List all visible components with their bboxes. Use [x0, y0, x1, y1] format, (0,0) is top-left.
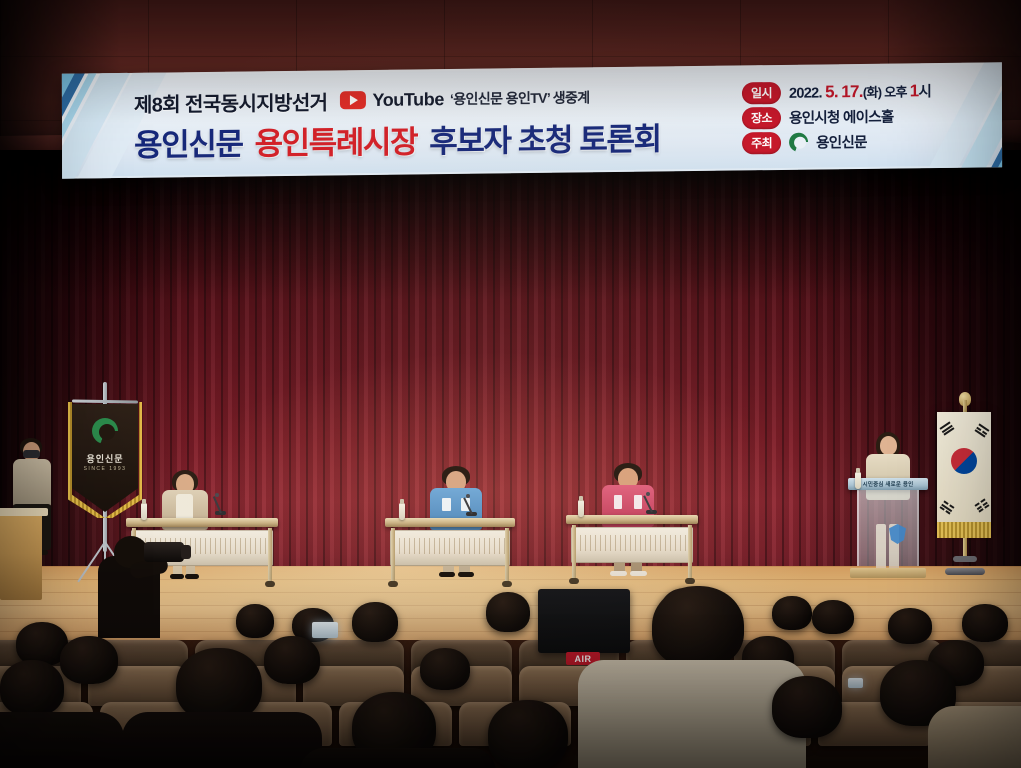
candidate-red-sash-right [634, 495, 642, 509]
youtube-icon [340, 91, 366, 109]
flag-cloth [937, 412, 991, 524]
candidate-blue-microphone [466, 496, 478, 518]
audience-head-foreground [652, 586, 744, 668]
table-top [385, 518, 515, 527]
podium-body [857, 490, 919, 566]
info-value-host: 용인신문 [816, 131, 867, 153]
staff-face-mask-icon [23, 450, 40, 458]
dslr-camera-icon [144, 542, 184, 562]
banner-info-block: 일시 2022. 5. 17.(화) 오후 1시 장소 용인시청 에이스홀 주최… [742, 66, 994, 166]
speaker-podium: 시민중심 새로운 용인 [848, 478, 928, 588]
banner-info-host: 주최 용인신문 [742, 129, 954, 154]
trigram-ri-icon [940, 500, 955, 514]
announcer-head [880, 436, 897, 455]
moderator-water-bottle [141, 503, 147, 520]
korean-national-flag [935, 400, 997, 590]
banner-info-datetime: 일시 2022. 5. 17.(화) 오후 1시 [742, 79, 954, 104]
audience-head [812, 600, 854, 634]
info-pill-datetime: 일시 [742, 81, 781, 103]
youtube-livestream-chip: YouTube ‘용인신문 용인TV’ 생중계 [340, 87, 589, 111]
info-pill-host: 주최 [742, 131, 781, 153]
audience-head [236, 604, 274, 638]
audience-shoulders-foreground [0, 712, 124, 768]
candidate-red-sash-left [614, 495, 622, 509]
candidate-red-table [566, 515, 698, 587]
audience-head [772, 596, 812, 630]
audience-head [486, 592, 530, 632]
staff-shirt [13, 459, 51, 507]
table-skirt [571, 527, 693, 563]
candidate-red-water-bottle [578, 500, 584, 517]
audience-seat-row-middle [0, 666, 1021, 706]
table-top [126, 518, 278, 527]
info-value-venue: 용인시청 에이스홀 [789, 106, 894, 128]
banner-main-text: 제8회 전국동시지방선거 YouTube ‘용인신문 용인TV’ 생중계 용인신… [134, 69, 742, 173]
moderator-microphone [215, 495, 227, 517]
trigram-gon-icon [975, 498, 990, 512]
audience-phone-recording[interactable] [312, 622, 338, 638]
pennant-crossbar [72, 399, 138, 403]
audience-head-foreground [488, 700, 568, 768]
candidate-blue-table [385, 518, 515, 588]
audience-head-foreground [0, 660, 64, 716]
podium-base [850, 568, 926, 578]
youtube-wordmark: YouTube [372, 89, 444, 111]
audience-head [60, 636, 118, 684]
trigram-geon-icon [940, 421, 955, 435]
flag-fringe [937, 522, 991, 538]
press-photographer [88, 528, 188, 638]
banner-title-event: 후보자 초청 토론회 [429, 113, 661, 161]
yongin-city-emblem-icon [889, 524, 906, 544]
audience-head [352, 602, 398, 642]
audience-head [420, 648, 470, 690]
podium-water-bottle [855, 472, 861, 489]
pennant-name: 용인신문 [58, 452, 152, 465]
candidate-blue-sash-left [442, 498, 451, 511]
audience-head [962, 604, 1008, 642]
event-banner: 제8회 전국동시지방선거 YouTube ‘용인신문 용인TV’ 생중계 용인신… [62, 62, 1002, 178]
flag-stand-base [945, 568, 985, 575]
stage-monitor [538, 589, 630, 653]
banner-info-venue: 장소 용인시청 에이스홀 [742, 104, 954, 129]
audience-head-foreground [176, 648, 262, 722]
table-skirt [390, 530, 510, 566]
podium-slogan: 시민중심 새로운 용인 [852, 480, 924, 488]
debate-hall-photo: 제8회 전국동시지방선거 YouTube ‘용인신문 용인TV’ 생중계 용인신… [0, 0, 1021, 768]
youtube-channel-label: ‘용인신문 용인TV’ 생중계 [450, 87, 590, 109]
audience-shoulders-foreground [300, 748, 496, 768]
audience-head [264, 636, 320, 684]
trigram-gam-icon [975, 423, 990, 437]
flag-stand-collar [953, 556, 977, 562]
audience-shoulders-foreground [122, 712, 322, 768]
banner-title-office: 용인특례시장 [254, 116, 417, 163]
left-wooden-lectern [0, 512, 42, 600]
left-lectern-top [0, 508, 48, 516]
taegeuk-symbol-icon [951, 448, 977, 474]
banner-election-line: 제8회 전국동시지방선거 [134, 86, 328, 117]
info-value-datetime: 2022. 5. 17.(화) 오후 1시 [789, 80, 931, 103]
candidate-red-microphone [646, 494, 658, 516]
audience-head-foreground [772, 676, 842, 738]
audience-shoulders-foreground-tan [928, 706, 1021, 768]
table-top [566, 515, 698, 524]
audience-phone-screen[interactable] [848, 678, 863, 688]
yongin-ilbo-logo-icon [789, 133, 808, 152]
info-pill-venue: 장소 [742, 106, 781, 128]
pennant-since: SINCE 1993 [58, 466, 152, 472]
banner-title-organizer: 용인신문 [134, 119, 243, 165]
candidate-blue-water-bottle [399, 503, 405, 520]
pennant-crescent-emblem-icon [92, 418, 118, 444]
audience-head [888, 608, 932, 644]
